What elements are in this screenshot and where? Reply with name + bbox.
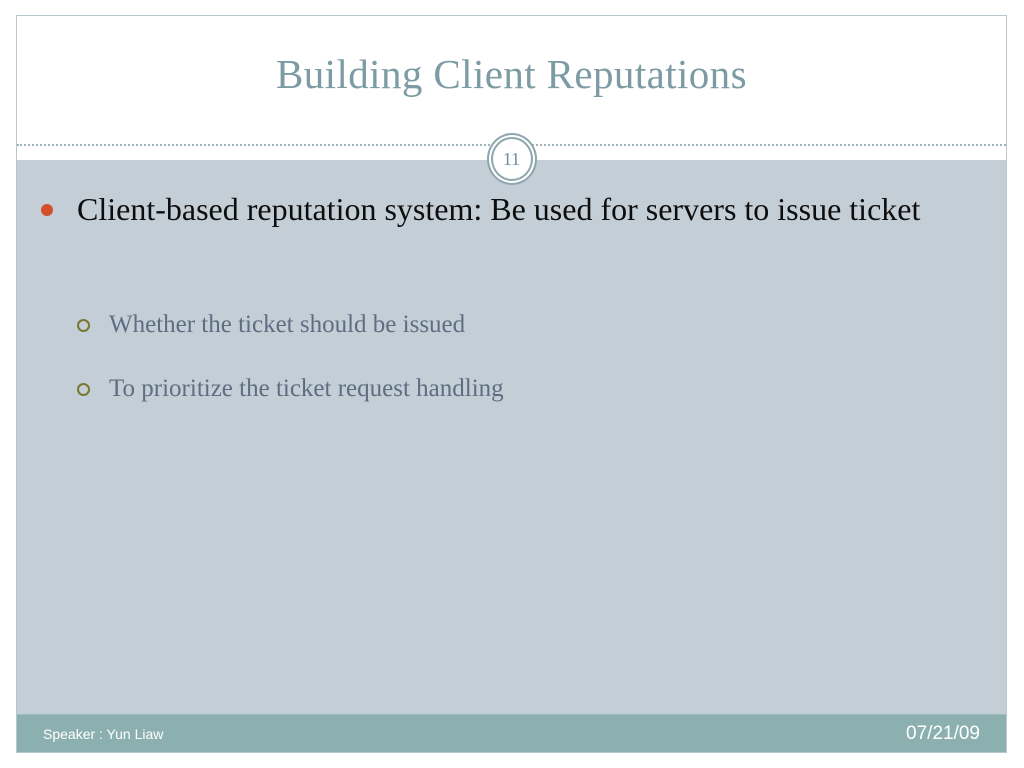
- page-number-label: 11: [487, 133, 537, 185]
- page-number-badge: 11: [487, 133, 537, 185]
- filled-dot-marker-icon: [41, 204, 53, 216]
- slide-body: Client-based reputation system: Be used …: [17, 160, 1006, 752]
- list-item: To prioritize the ticket request handlin…: [77, 372, 937, 406]
- slide-frame: Building Client Reputations Client-based…: [16, 15, 1007, 753]
- bullet-level2-label: Whether the ticket should be issued: [109, 308, 937, 342]
- hollow-circle-marker-icon: [77, 319, 90, 332]
- slide-footer: Speaker : Yun Liaw 07/21/09: [17, 714, 1006, 752]
- footer-date-label: 07/21/09: [906, 723, 980, 745]
- bullet-level1: Client-based reputation system: Be used …: [41, 187, 987, 231]
- bullet-level2-label: To prioritize the ticket request handlin…: [109, 372, 937, 406]
- list-item: Whether the ticket should be issued: [77, 308, 937, 342]
- hollow-circle-marker-icon: [77, 383, 90, 396]
- bullet-level1-label: Client-based reputation system: Be used …: [77, 187, 957, 231]
- footer-speaker-label: Speaker : Yun Liaw: [43, 726, 163, 742]
- page-title: Building Client Reputations: [17, 52, 1006, 97]
- slide-canvas: Building Client Reputations Client-based…: [0, 0, 1024, 768]
